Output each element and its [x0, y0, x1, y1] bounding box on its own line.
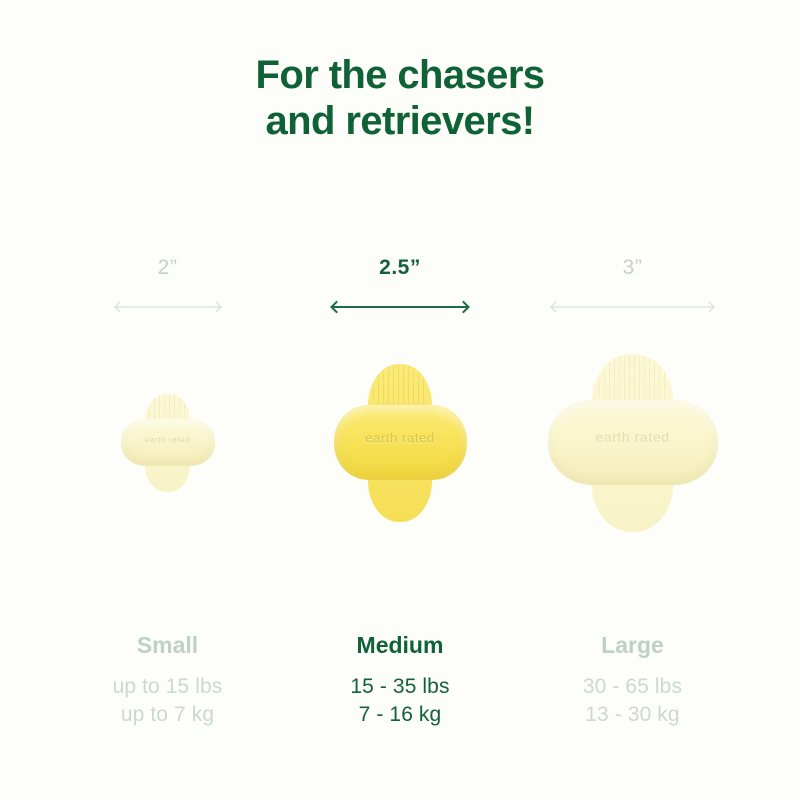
- arrow-head-left-icon: [330, 301, 343, 314]
- arrow-bar-icon: [332, 306, 468, 308]
- size-name-large: Large: [601, 630, 664, 660]
- toy-ridge-texture-icon: [599, 355, 667, 403]
- dimension-arrow-large: [552, 301, 713, 313]
- size-guide-infographic: For the chasers and retrievers! 2” earth…: [0, 0, 800, 800]
- arrow-head-left-icon: [114, 301, 125, 312]
- size-column-medium[interactable]: 2.5” earth rated Medium 15 - 35 lbs: [293, 255, 508, 729]
- size-columns: 2” earth rated Small up to 15 lbs: [60, 255, 740, 729]
- toy-ridge-texture-icon: [149, 394, 187, 420]
- size-name-medium: Medium: [357, 630, 444, 660]
- arrow-head-right-icon: [703, 301, 714, 312]
- dimension-label-large: 3”: [623, 255, 643, 281]
- arrow-head-right-icon: [210, 301, 221, 312]
- dimension-arrow-small: [116, 301, 220, 313]
- toy-lobe-horizontal: [548, 400, 718, 485]
- dimension-label-medium: 2.5”: [379, 255, 421, 281]
- arrow-head-left-icon: [550, 301, 561, 312]
- size-column-small[interactable]: 2” earth rated Small up to 15 lbs: [60, 255, 275, 729]
- weight-kg-small: up to 7 kg: [113, 701, 223, 729]
- toy-lobe-horizontal: [334, 405, 467, 481]
- page-title: For the chasers and retrievers!: [0, 52, 800, 145]
- arrow-head-right-icon: [457, 301, 470, 314]
- toy-lobe-horizontal: [121, 419, 215, 466]
- weight-kg-medium: 7 - 16 kg: [350, 701, 449, 729]
- weight-lbs-large: 30 - 65 lbs: [583, 673, 682, 701]
- dimension-label-small: 2”: [158, 255, 178, 281]
- product-image-small-area: earth rated: [121, 335, 215, 550]
- weight-kg-large: 13 - 30 kg: [583, 701, 682, 729]
- weight-range-small: up to 15 lbs up to 7 kg: [113, 673, 223, 729]
- dimension-arrow-small-wrap: [116, 291, 220, 323]
- dimension-arrow-medium: [332, 301, 468, 313]
- product-image-large-area: earth rated: [548, 335, 718, 550]
- weight-lbs-medium: 15 - 35 lbs: [350, 673, 449, 701]
- headline-line-2: and retrievers!: [0, 98, 800, 144]
- size-name-small: Small: [137, 630, 198, 660]
- weight-range-large: 30 - 65 lbs 13 - 30 kg: [583, 673, 682, 729]
- product-image-medium-area: earth rated: [334, 335, 467, 550]
- arrow-bar-icon: [552, 307, 713, 308]
- headline-line-1: For the chasers: [0, 52, 800, 98]
- dimension-arrow-medium-wrap: [332, 291, 468, 323]
- product-image-medium[interactable]: earth rated: [334, 364, 467, 522]
- weight-range-medium: 15 - 35 lbs 7 - 16 kg: [350, 673, 449, 729]
- dimension-arrow-large-wrap: [552, 291, 713, 323]
- weight-lbs-small: up to 15 lbs: [113, 673, 223, 701]
- arrow-bar-icon: [116, 307, 220, 308]
- product-image-small[interactable]: earth rated: [121, 394, 215, 492]
- size-column-large[interactable]: 3” earth rated Large 30 - 65 lbs: [525, 255, 740, 729]
- toy-ridge-texture-icon: [373, 365, 426, 408]
- product-image-large[interactable]: earth rated: [548, 354, 718, 532]
